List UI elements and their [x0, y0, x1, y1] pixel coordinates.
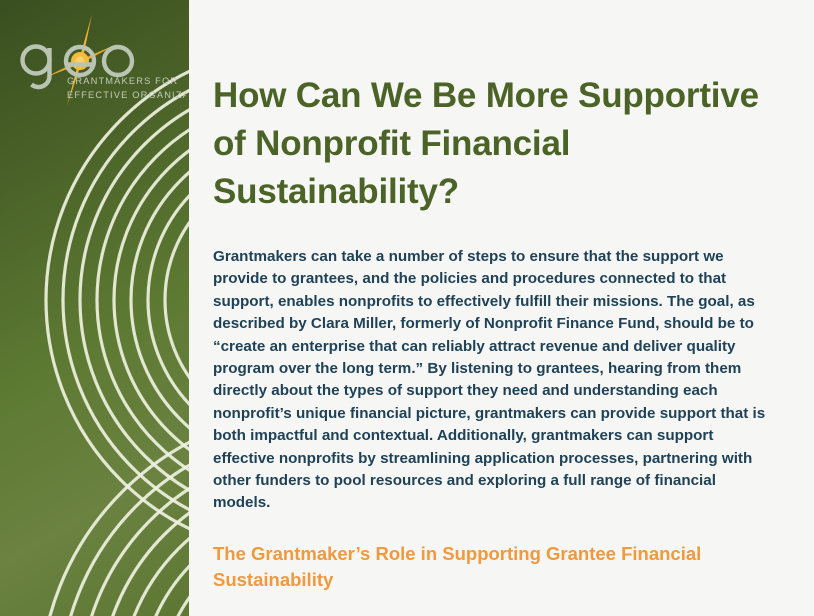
geo-logo: GRANTMAKERS FOR EFFECTIVE ORGANIZATIONS [14, 14, 186, 106]
logo-tagline-line-2: EFFECTIVE ORGANIZATIONS [67, 90, 186, 100]
logo-tagline-line-1: GRANTMAKERS FOR [67, 76, 178, 86]
section-subheading: The Grantmaker’s Role in Supporting Gran… [213, 541, 753, 593]
document-page: GRANTMAKERS FOR EFFECTIVE ORGANIZATIONS … [0, 0, 814, 616]
body-paragraph: Grantmakers can take a number of steps t… [213, 246, 773, 515]
decorative-sidebar: GRANTMAKERS FOR EFFECTIVE ORGANIZATIONS [0, 0, 189, 616]
content-column: How Can We Be More Supportive of Nonprof… [189, 0, 814, 616]
page-title: How Can We Be More Supportive of Nonprof… [213, 72, 773, 216]
